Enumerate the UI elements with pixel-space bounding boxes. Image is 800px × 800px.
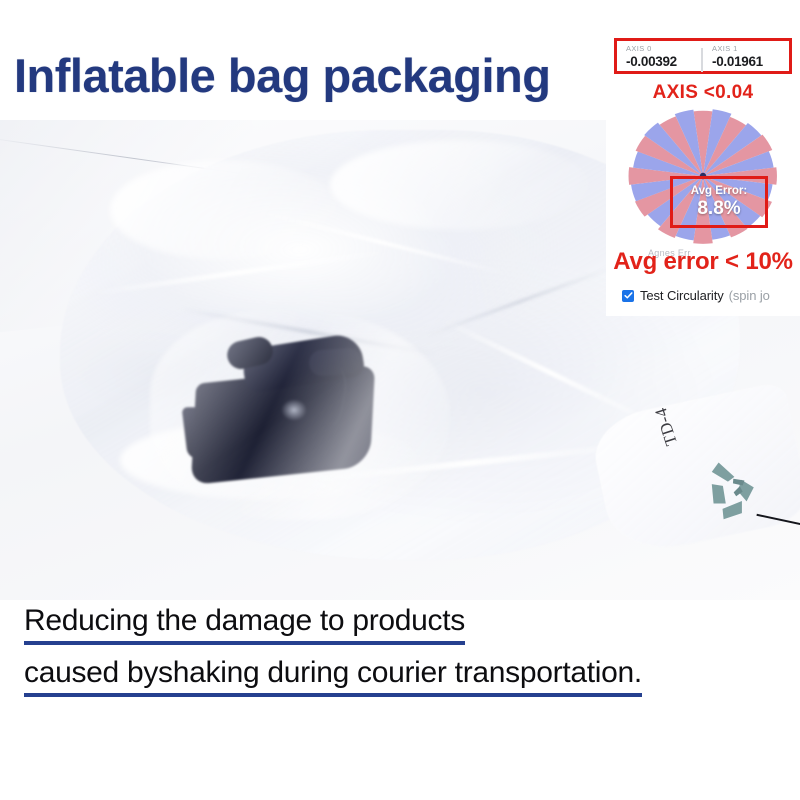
axis-1-label: AXIS 1 [712,44,789,54]
avg-error-callout: Avg Error: 8.8% [670,176,768,228]
caption-row-1: Reducing the damage to products [24,604,764,645]
product-specular [281,399,307,421]
page-title: Inflatable bag packaging [14,48,550,103]
axis-tolerance-annotation: AXIS <0.04 [606,82,800,104]
circularity-ui-overlay: AXIS 0 -0.00392 AXIS 1 -0.01961 AXIS <0.… [606,0,800,316]
screenshot-canvas: TD-4 Inflatable bag packaging AXIS 0 -0.… [0,0,800,800]
test-circularity-label: Test Circularity [640,288,724,303]
caption-block: Reducing the damage to products caused b… [24,604,764,708]
axis-readout-cell-0: AXIS 0 -0.00392 [617,44,703,69]
packed-product [185,335,405,485]
checkbox-checked-icon[interactable] [622,290,634,302]
error-tolerance-annotation: Avg error < 10% [606,248,800,276]
axis-1-value: -0.01961 [712,54,789,69]
caption-line-2: caused byshaking during courier transpor… [24,656,642,697]
axis-readout-cell-1: AXIS 1 -0.01961 [703,44,789,69]
avg-error-label: Avg Error: [691,185,747,198]
caption-line-1: Reducing the damage to products [24,604,465,645]
test-circularity-suffix: (spin jo [729,288,770,303]
test-circularity-row[interactable]: Test Circularity (spin jo [622,288,770,303]
caption-row-2: caused byshaking during courier transpor… [24,656,764,697]
axis-0-label: AXIS 0 [626,44,703,54]
axis-0-value: -0.00392 [626,54,703,69]
axis-readout-panel: AXIS 0 -0.00392 AXIS 1 -0.01961 [614,38,792,74]
bag-highlight [330,140,590,230]
avg-error-value: 8.8% [697,198,740,219]
circularity-dial: Agnes Err Avg Error: 8.8% [622,106,784,246]
bag-highlight [110,160,340,260]
